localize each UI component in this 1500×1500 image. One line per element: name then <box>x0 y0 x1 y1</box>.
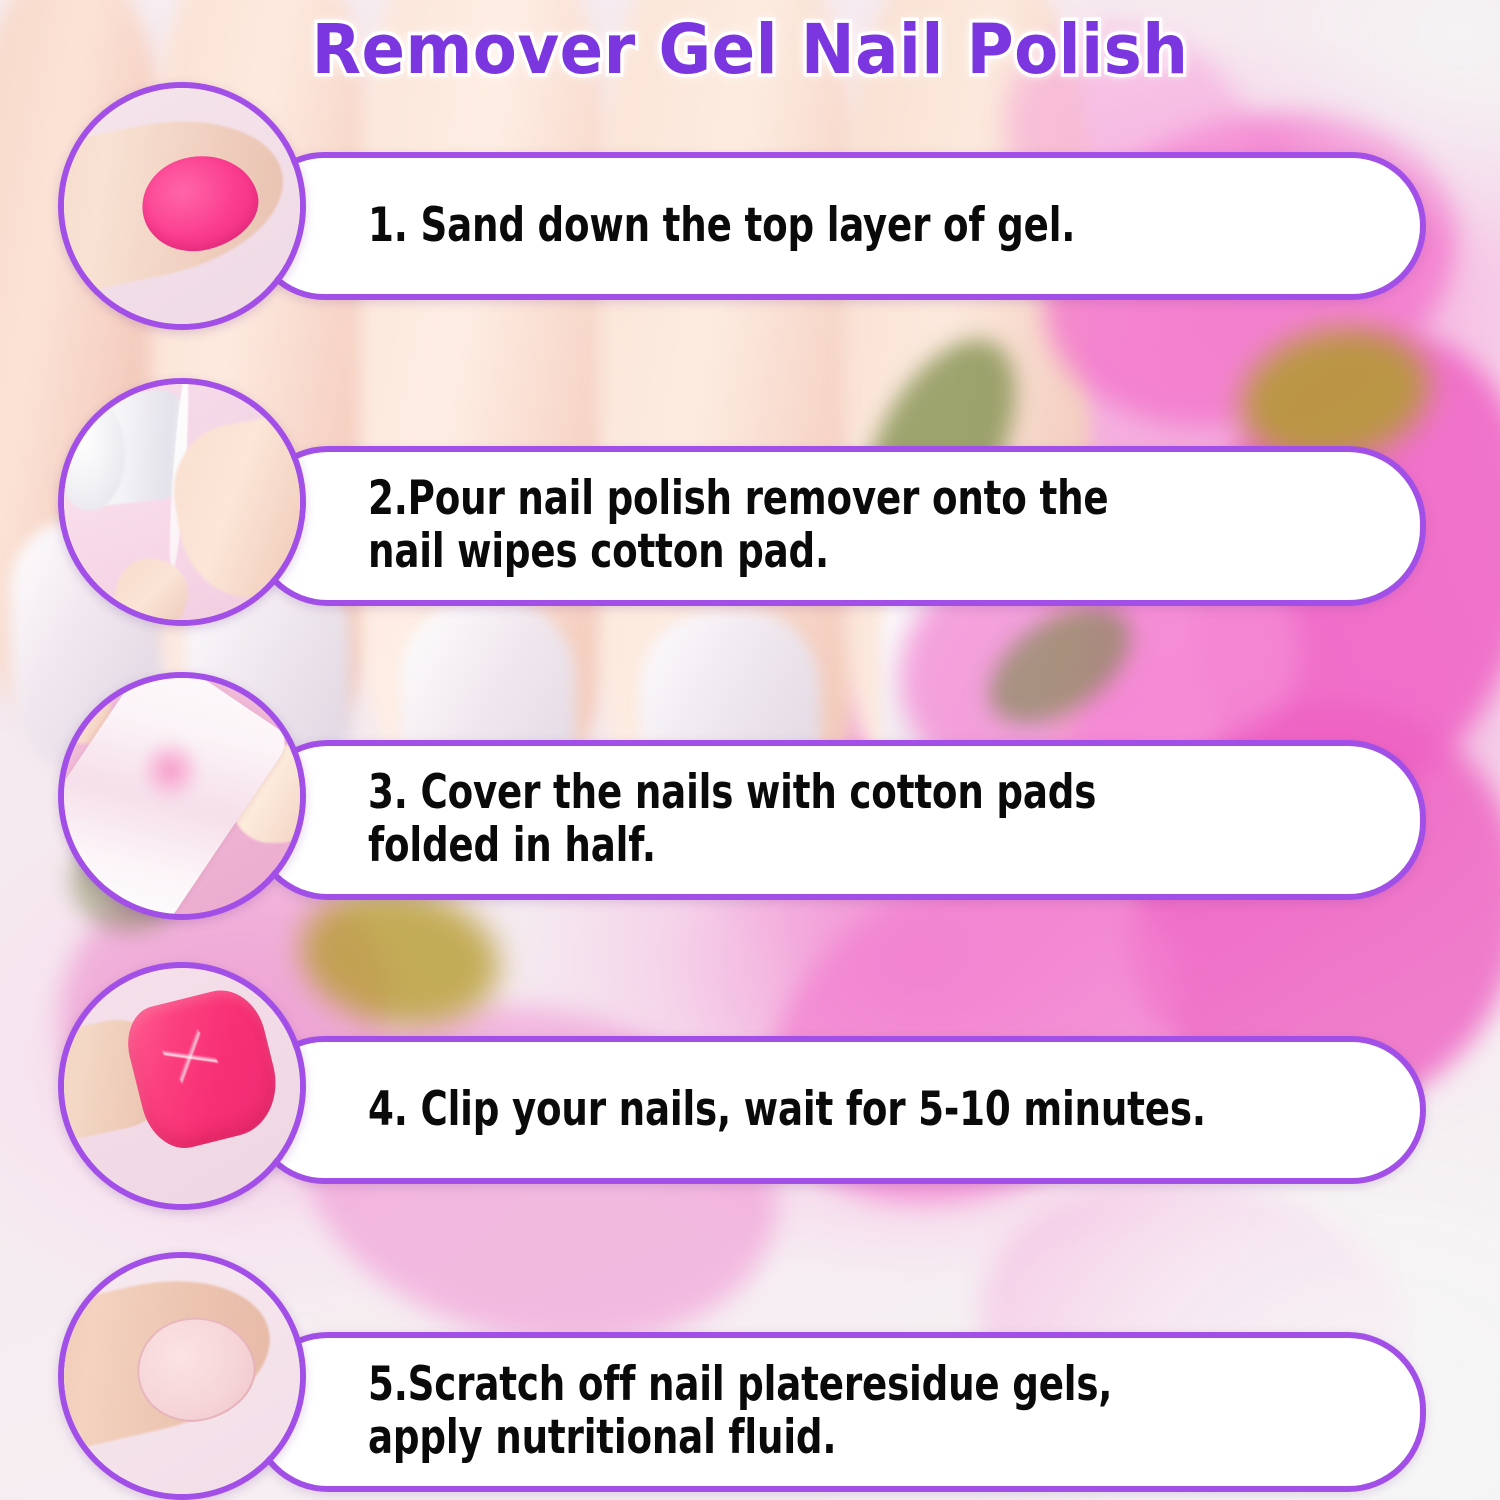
step-box-4: 4. Clip your nails, wait for 5-10 minute… <box>250 1036 1426 1184</box>
step-box-3: 3. Cover the nails with cotton pads fold… <box>250 740 1426 900</box>
step-thumbnail-4 <box>58 962 306 1210</box>
page-title: Remover Gel Nail Polish <box>53 14 1448 86</box>
step-box-1: 1. Sand down the top layer of gel. <box>250 152 1426 300</box>
step-text-3: 3. Cover the nails with cotton pads fold… <box>368 767 1096 872</box>
step-text-2: 2.Pour nail polish remover onto the nail… <box>368 473 1108 578</box>
step-thumbnail-2 <box>58 378 306 626</box>
step-box-5: 5.Scratch off nail plateresidue gels, ap… <box>250 1332 1426 1492</box>
product-infographic: Remover Gel Nail Polish 1. Sand down the… <box>0 0 1500 1500</box>
step-text-5: 5.Scratch off nail plateresidue gels, ap… <box>368 1359 1112 1464</box>
step-text-4: 4. Clip your nails, wait for 5-10 minute… <box>368 1084 1206 1137</box>
step-thumbnail-5 <box>58 1252 306 1500</box>
step-thumbnail-1 <box>58 82 306 330</box>
step-thumbnail-3 <box>58 672 306 920</box>
step-text-1: 1. Sand down the top layer of gel. <box>368 200 1075 253</box>
step-box-2: 2.Pour nail polish remover onto the nail… <box>250 446 1426 606</box>
